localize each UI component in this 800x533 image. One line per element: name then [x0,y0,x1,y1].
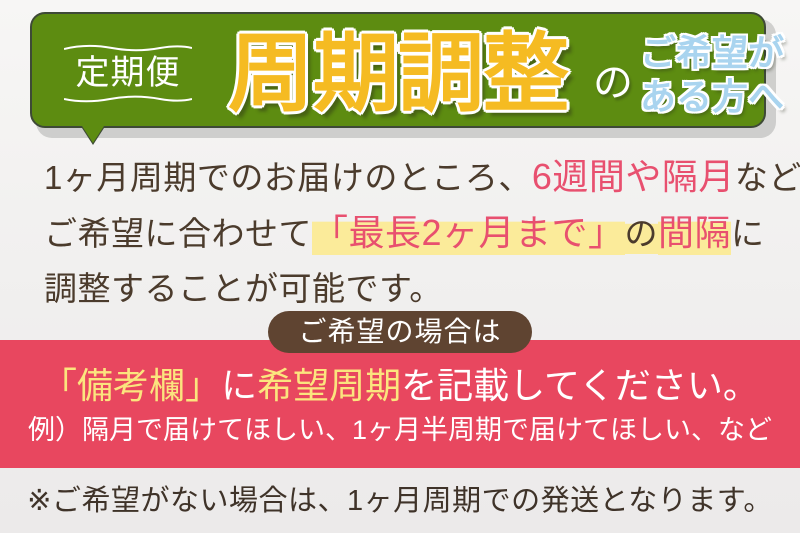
subscription-badge: 定期便 [60,34,196,112]
band-remarks-field-term: 「備考欄」 [41,365,221,406]
header-green-box: 定期便 周期調整 の ご希望が ある方へ [30,12,766,128]
band-example-line: 例）隔月で届けてほしい、1ヶ月半周期で届けてほしい、など [0,412,800,448]
body-line-1-part-3: など [735,159,800,196]
body-line-2-quoted-term: 「最長2ヶ月まで」 [312,212,625,255]
pink-instruction-band: 「備考欄」に希望周期を記載してください。 例）隔月で届けてほしい、1ヶ月半周期で… [0,340,800,468]
speech-bubble-tail-icon [82,126,104,143]
header-speech-bubble: 定期便 周期調整 の ご希望が ある方へ [30,12,770,134]
body-paragraph: 1ヶ月周期でのお届けのところ、6週間や隔月など ご希望に合わせて「最長2ヶ月まで… [44,149,774,316]
header-title-particle: の [593,60,633,106]
body-line-2-part-1: ご希望に合わせて [44,215,312,252]
body-line-2: ご希望に合わせて「最長2ヶ月まで」の間隔に [44,205,774,261]
body-line-2-part-5: に [731,215,765,252]
footnote-text: ※ご希望がない場合は、1ヶ月周期での発送となります。 [0,480,800,522]
body-line-1-part-1: 1ヶ月周期でのお届けのところ、 [44,159,532,196]
body-line-3: 調整することが可能です。 [44,261,774,316]
promo-banner: 定期便 周期調整 の ご希望が ある方へ 1ヶ月周期でのお届けのところ、6週間や… [0,0,800,533]
band-desired-cycle-term: 希望周期 [257,365,401,406]
header-title-main: 周期調整 [228,22,568,126]
body-line-2-interval-term: 間隔 [658,212,731,255]
body-line-1-highlight: 6週間や隔月 [532,156,735,197]
body-line-2-part-3: の [625,215,659,254]
header-subtitle-block: ご希望が ある方へ [640,31,790,119]
header-subtitle-line-2: ある方へ [640,75,790,119]
band-line-1: 「備考欄」に希望周期を記載してください。 [0,364,800,408]
header-subtitle-line-1: ご希望が [640,31,790,75]
wavy-line-bottom-icon [64,95,192,103]
subscription-badge-label: 定期便 [76,52,181,95]
body-line-1: 1ヶ月周期でのお届けのところ、6週間や隔月など [44,149,774,205]
request-case-pill: ご希望の場合は [268,311,532,353]
wavy-line-top-icon [64,44,192,52]
band-line-1-part-2: に [221,365,257,406]
band-line-1-part-4: を記載してください。 [401,365,759,406]
